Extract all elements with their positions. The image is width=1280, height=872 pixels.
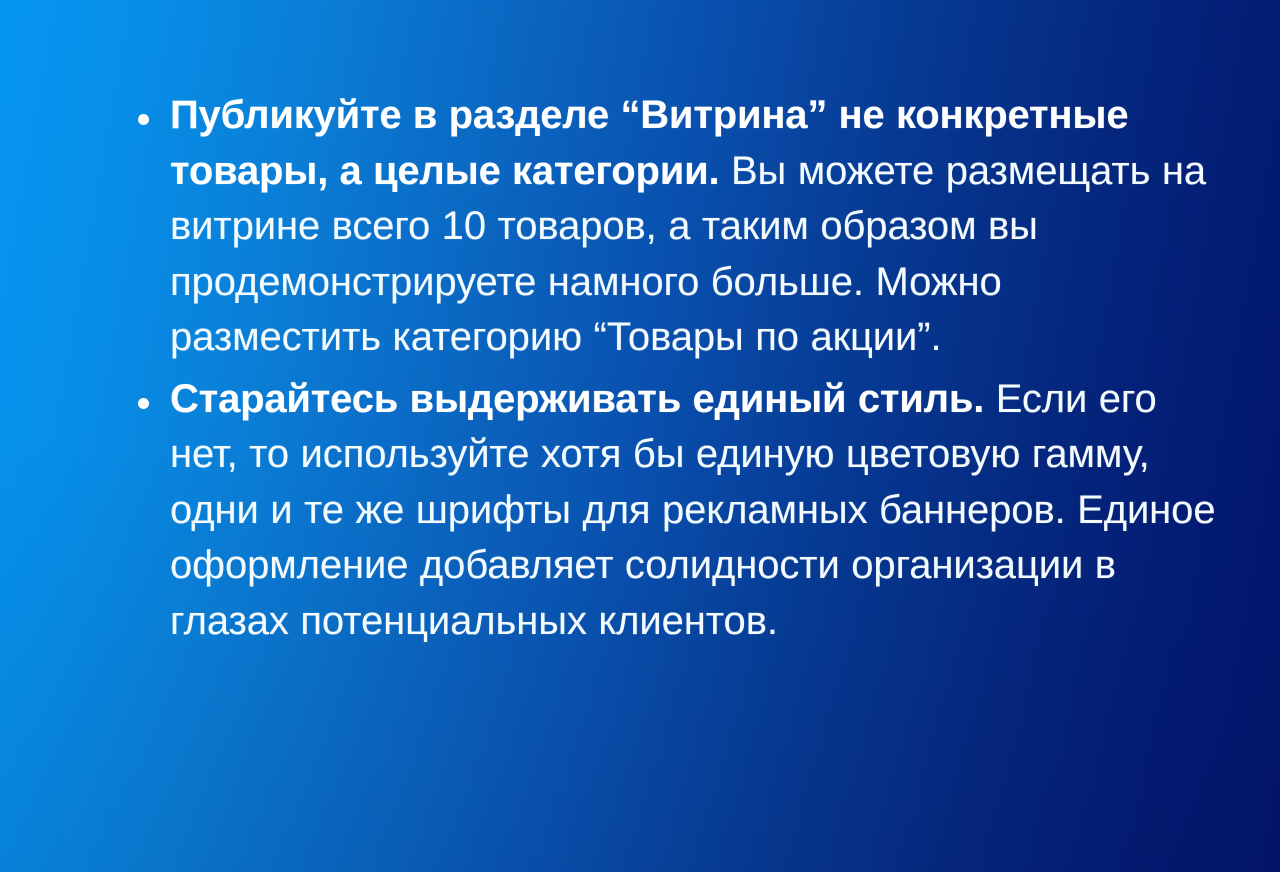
bullet-dot-icon [138, 114, 149, 125]
bullet-lead-text: Старайтесь выдерживать единый стиль. [170, 377, 984, 421]
bullet-paragraph: Старайтесь выдерживать единый стиль. Есл… [170, 372, 1222, 650]
bullet-paragraph: Публикуйте в разделе “Витрина” не конкре… [170, 88, 1222, 366]
slide-content: Публикуйте в разделе “Витрина” не конкре… [132, 88, 1222, 649]
bullet-list: Публикуйте в разделе “Витрина” не конкре… [132, 88, 1222, 649]
list-item: Старайтесь выдерживать единый стиль. Есл… [132, 372, 1222, 650]
list-item: Публикуйте в разделе “Витрина” не конкре… [132, 88, 1222, 366]
bullet-dot-icon [138, 398, 149, 409]
slide-canvas: Публикуйте в разделе “Витрина” не конкре… [0, 0, 1280, 872]
